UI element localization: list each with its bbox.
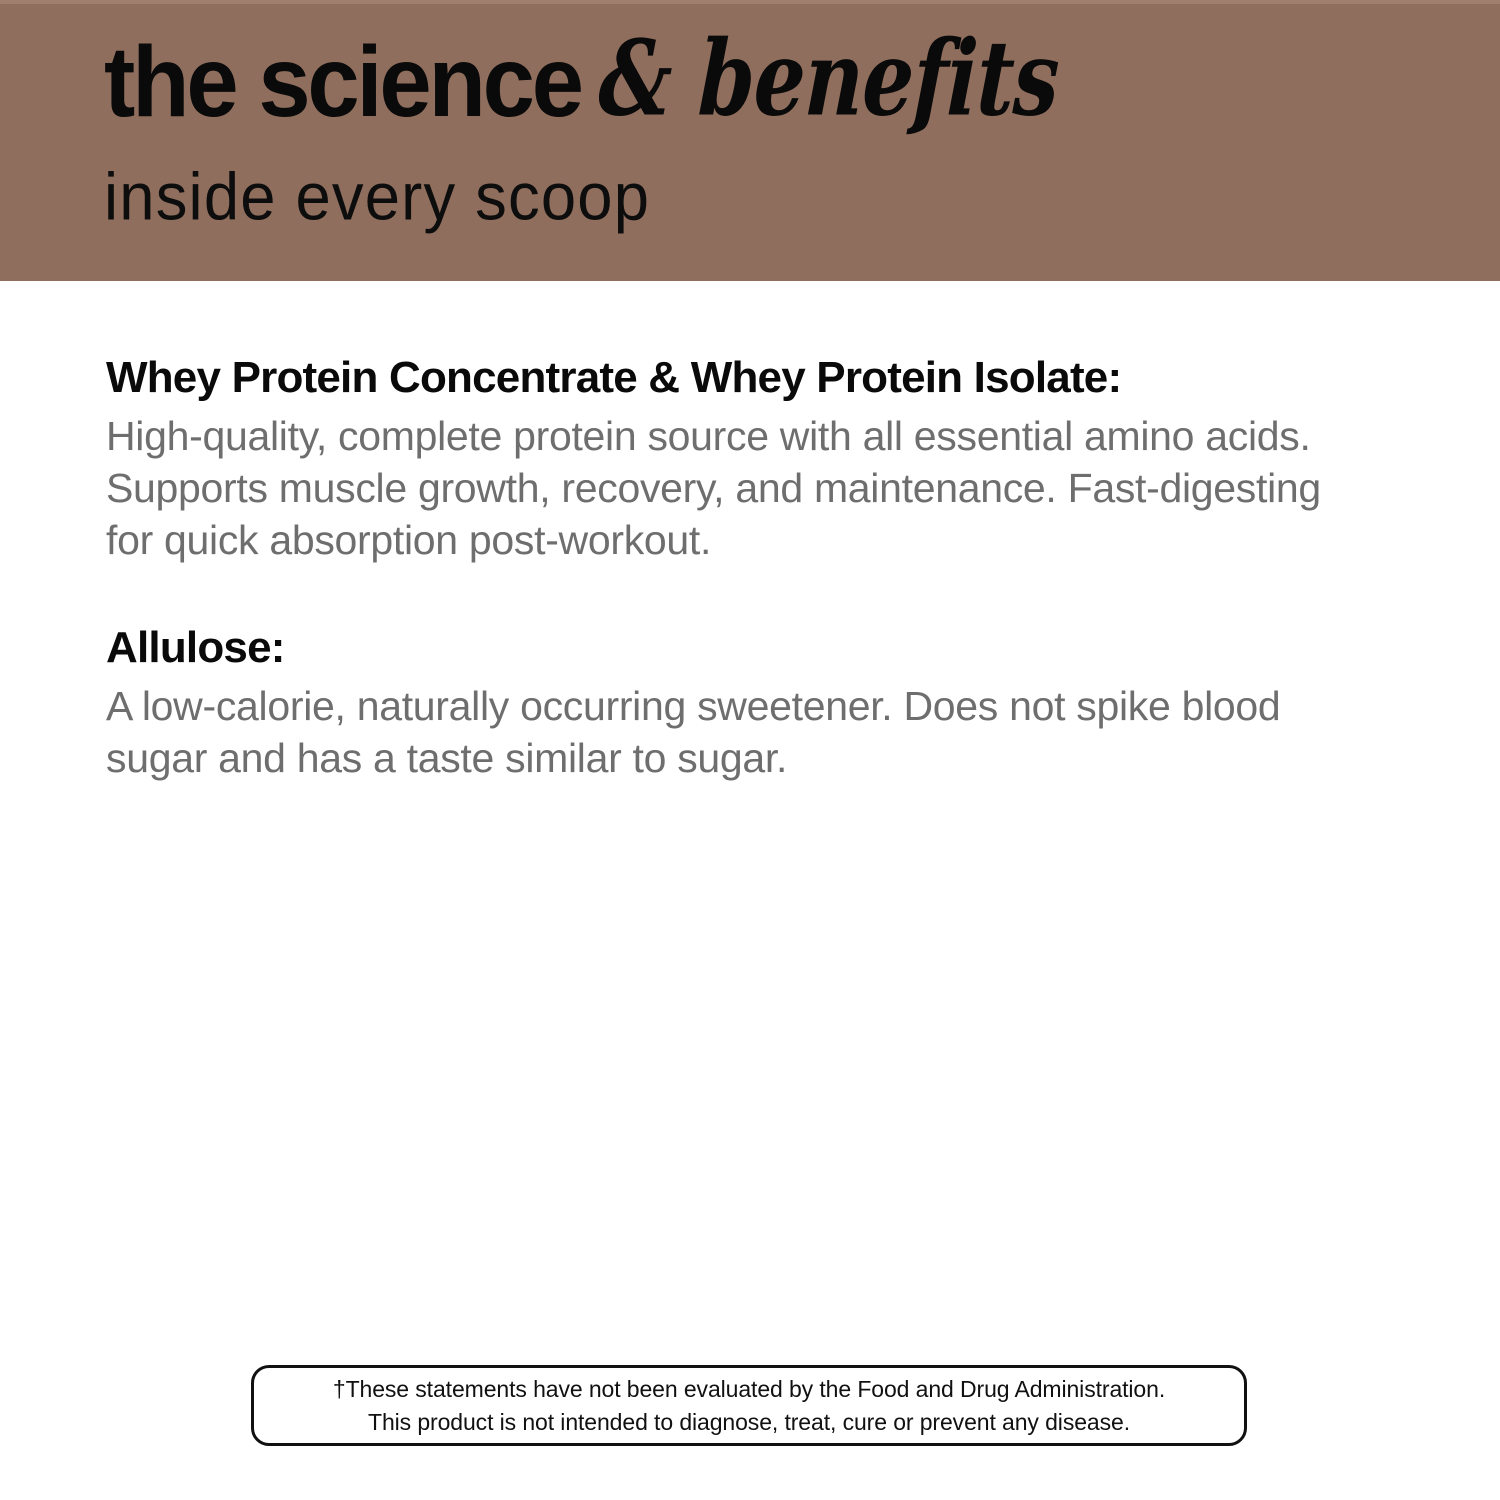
ingredient-sections: Whey Protein Concentrate & Whey Protein … (106, 352, 1346, 784)
ingredient-heading-allulose: Allulose: (106, 622, 1346, 674)
header-band: the science& benefits inside every scoop (0, 0, 1500, 281)
fda-disclaimer-line-2: This product is not intended to diagnose… (368, 1406, 1130, 1439)
ingredient-section-allulose: Allulose: A low-calorie, naturally occur… (106, 622, 1346, 784)
page-subtitle: inside every scoop (104, 162, 650, 233)
ingredient-body-whey-protein: High-quality, complete protein source wi… (106, 410, 1341, 566)
product-benefits-panel: the science& benefits inside every scoop… (0, 0, 1500, 1500)
page-title: the science& benefits (104, 38, 1096, 132)
fda-disclaimer-box: †These statements have not been evaluate… (251, 1365, 1247, 1446)
fda-disclaimer-line-1: †These statements have not been evaluate… (333, 1373, 1165, 1406)
ingredient-heading-whey-protein: Whey Protein Concentrate & Whey Protein … (106, 352, 1346, 404)
ingredient-body-allulose: A low-calorie, naturally occurring sweet… (106, 680, 1341, 784)
page-title-secondary: & benefits (597, 26, 1060, 130)
ingredient-section-whey-protein: Whey Protein Concentrate & Whey Protein … (106, 352, 1346, 566)
page-title-primary: the science (104, 31, 581, 132)
